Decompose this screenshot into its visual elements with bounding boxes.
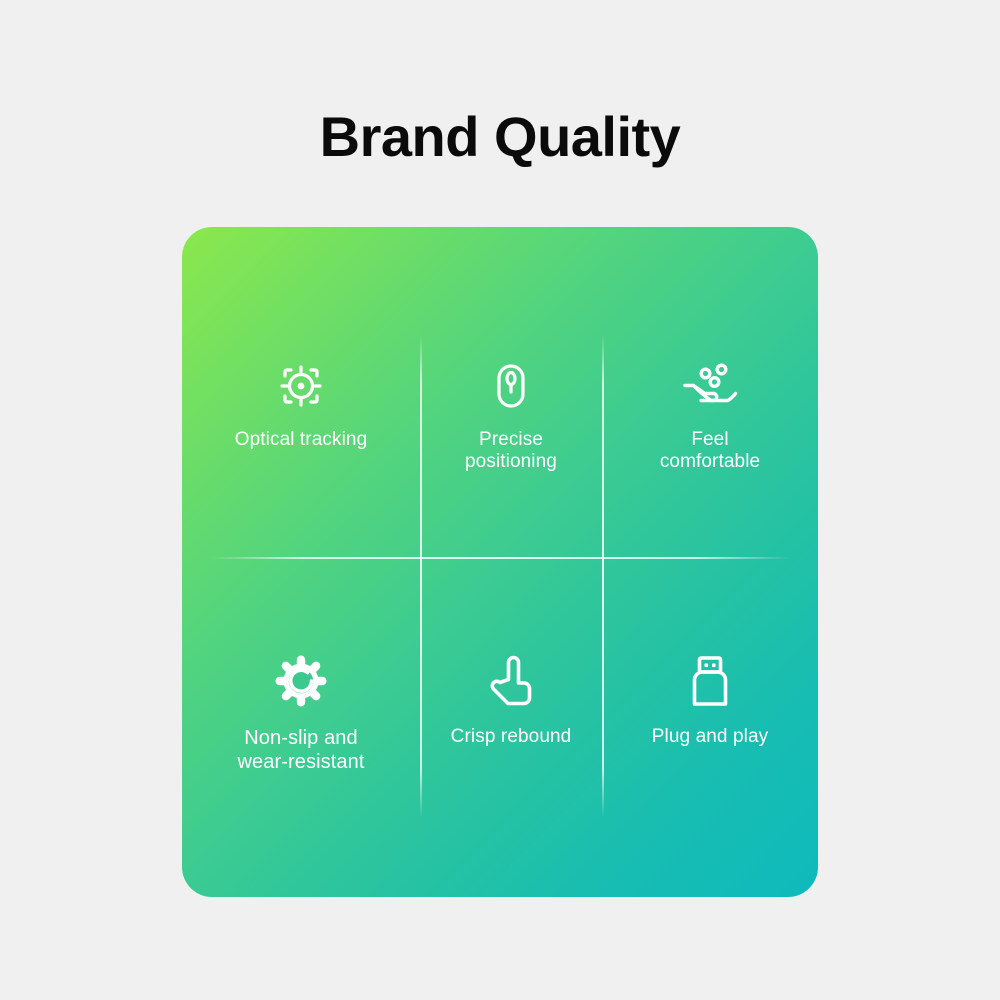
computer-mouse-icon (482, 357, 540, 415)
feature-cell-non-slip-wear-resistant[interactable]: Non-slip and wear-resistant (182, 557, 420, 897)
pointing-finger-icon (482, 652, 540, 710)
feature-cell-crisp-rebound[interactable]: Crisp rebound (420, 557, 602, 897)
page-title: Brand Quality (0, 104, 1000, 170)
feature-label-optical-tracking: Optical tracking (235, 429, 368, 451)
hand-with-bubbles-icon (681, 357, 739, 415)
feature-cell-precise-positioning[interactable]: Precise positioning (420, 227, 602, 557)
feature-label-feel-comfortable: Feel comfortable (660, 429, 760, 473)
crosshair-target-icon (272, 357, 330, 415)
feature-label-crisp-rebound: Crisp rebound (451, 726, 572, 748)
feature-cell-feel-comfortable[interactable]: Feel comfortable (602, 227, 818, 557)
feature-cell-optical-tracking[interactable]: Optical tracking (182, 227, 420, 557)
feature-grid: Optical tracking Precise positioning (182, 227, 818, 897)
feature-grid-card: Optical tracking Precise positioning (182, 227, 818, 897)
feature-label-non-slip-wear-resistant: Non-slip and wear-resistant (238, 726, 365, 774)
feature-label-plug-and-play: Plug and play (652, 726, 768, 748)
usb-connector-icon (681, 652, 739, 710)
feature-cell-plug-and-play[interactable]: Plug and play (602, 557, 818, 897)
gear-icon (272, 652, 330, 710)
page-root: Brand Quality (0, 0, 1000, 1000)
feature-label-precise-positioning: Precise positioning (465, 429, 557, 473)
